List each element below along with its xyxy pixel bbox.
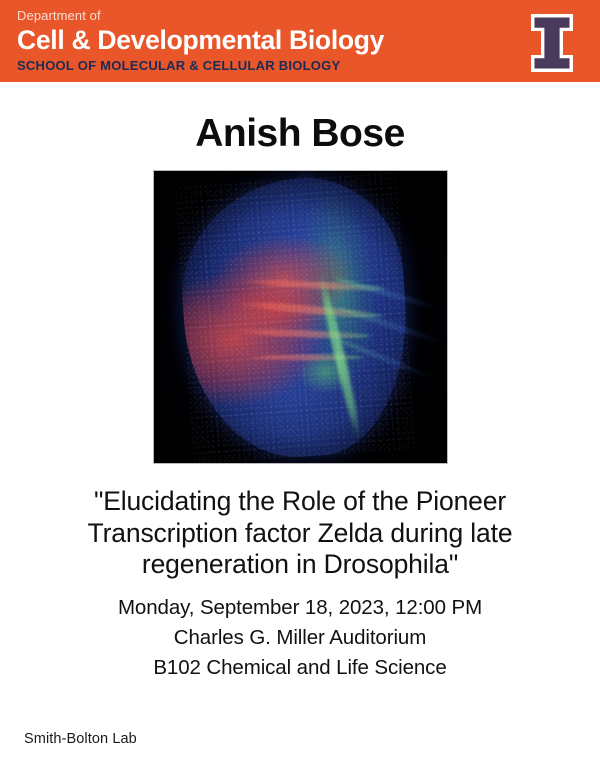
school-name-subtitle: SCHOOL OF MOLECULAR & CELLULAR BIOLOGY — [17, 58, 487, 74]
department-name-title: Cell & Developmental Biology — [17, 25, 487, 56]
university-block-i-logo — [528, 12, 576, 74]
lab-credit: Smith-Bolton Lab — [24, 730, 137, 748]
header-text-block: Department of Cell & Developmental Biolo… — [17, 8, 487, 74]
speaker-name: Anish Bose — [0, 112, 600, 156]
talk-title-line-3: regeneration in Drosophila" — [18, 549, 582, 581]
event-datetime: Monday, September 18, 2023, 12:00 PM — [0, 593, 600, 623]
event-room: B102 Chemical and Life Science — [0, 653, 600, 683]
talk-title-line-2: Transcription factor Zelda during late — [18, 518, 582, 550]
department-header-banner: Department of Cell & Developmental Biolo… — [0, 0, 600, 82]
event-venue: Charles G. Miller Auditorium — [0, 623, 600, 653]
micrograph-background — [154, 171, 447, 463]
microscopy-image — [153, 170, 448, 464]
talk-title: "Elucidating the Role of the Pioneer Tra… — [18, 486, 582, 581]
department-eyebrow-label: Department of — [17, 8, 487, 24]
talk-title-line-1: "Elucidating the Role of the Pioneer — [18, 486, 582, 518]
nuclear-speckle-texture — [174, 172, 415, 464]
event-details: Monday, September 18, 2023, 12:00 PM Cha… — [0, 593, 600, 683]
wing-disc-shape — [174, 172, 415, 464]
block-i-icon — [528, 12, 576, 74]
figure-wrapper — [0, 170, 600, 464]
